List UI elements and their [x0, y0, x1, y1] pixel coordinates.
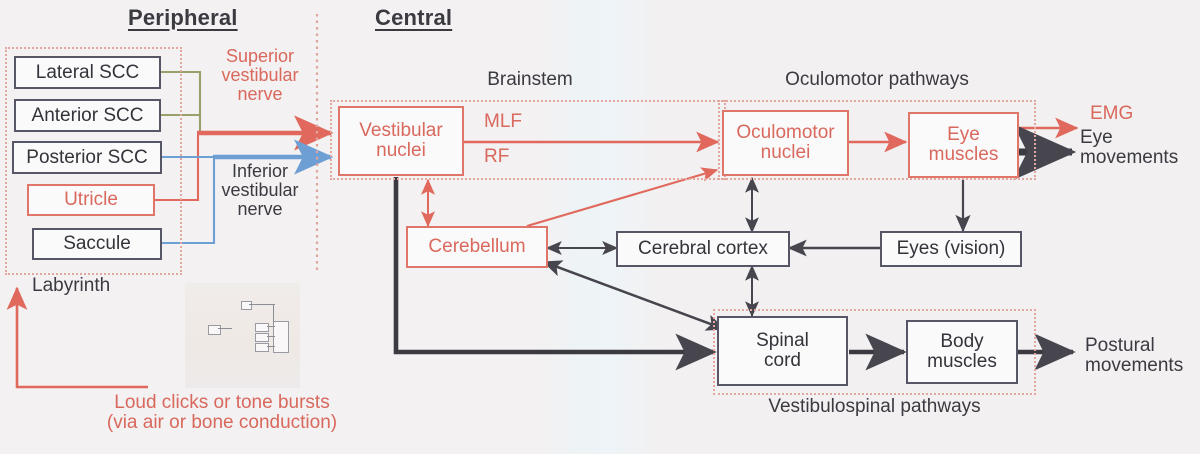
box-label: Vestibular nuclei — [340, 121, 462, 161]
edge-spinal-cord-to-cerebellum — [544, 262, 724, 329]
label-labyrinth: Labyrinth — [32, 276, 110, 296]
box-utricle[interactable]: Utricle — [27, 184, 155, 216]
label-stimulus: Loud clicks or tone bursts (via air or b… — [12, 393, 432, 433]
label-mlf: MLF — [484, 112, 544, 132]
box-spinal-cord[interactable]: Spinal cord — [717, 316, 848, 386]
electrode — [255, 323, 269, 332]
electrode-wire — [267, 336, 275, 337]
electrode — [255, 333, 269, 342]
label-postural-movements: Postural movements — [1085, 336, 1200, 376]
electrode-wire — [273, 304, 274, 324]
label-vestibulospinal-pathways: Vestibulospinal pathways — [713, 397, 1036, 417]
box-label: Cerebellum — [408, 237, 546, 257]
box-label: Utricle — [29, 190, 153, 210]
subject-photo — [185, 283, 300, 388]
box-label: Lateral SCC — [16, 63, 159, 83]
label-inferior-vestibular-nerve: Inferior vestibular nerve — [204, 162, 316, 219]
electrode-connector — [273, 321, 289, 353]
label-eye-movements: Eye movements — [1080, 128, 1198, 168]
heading-peripheral: Peripheral — [128, 5, 238, 31]
box-label: Eyes (vision) — [882, 239, 1020, 259]
electrode-wire — [267, 326, 275, 327]
label-brainstem: Brainstem — [440, 70, 620, 90]
electrode-wire — [267, 346, 275, 347]
box-anterior-scc[interactable]: Anterior SCC — [14, 99, 161, 132]
box-label: Posterior SCC — [14, 148, 160, 168]
box-cerebellum[interactable]: Cerebellum — [406, 226, 548, 268]
electrode-wire — [249, 304, 275, 305]
label-rf: RF — [484, 147, 544, 167]
box-lateral-scc[interactable]: Lateral SCC — [14, 56, 161, 89]
box-body-muscles[interactable]: Body muscles — [906, 320, 1018, 384]
box-cerebral-cortex[interactable]: Cerebral cortex — [616, 231, 790, 267]
box-oculomotor-nuclei[interactable]: Oculomotor nuclei — [722, 110, 849, 176]
box-label: Saccule — [34, 234, 160, 254]
box-label: Cerebral cortex — [618, 239, 788, 259]
box-label: Eye muscles — [910, 125, 1017, 165]
box-eye-muscles[interactable]: Eye muscles — [908, 112, 1019, 178]
figure-canvas: Peripheral Central Lateral SCC Anterior … — [0, 0, 1200, 454]
box-saccule[interactable]: Saccule — [32, 228, 162, 260]
box-label: Oculomotor nuclei — [724, 123, 847, 163]
box-posterior-scc[interactable]: Posterior SCC — [12, 141, 162, 174]
label-emg: EMG — [1090, 104, 1170, 124]
heading-central: Central — [375, 5, 452, 31]
electrode — [241, 301, 252, 310]
box-label: Spinal cord — [719, 331, 846, 371]
box-label: Body muscles — [908, 332, 1016, 372]
label-superior-vestibular-nerve: Superior vestibular nerve — [204, 47, 316, 104]
box-vestibular-nuclei[interactable]: Vestibular nuclei — [338, 106, 464, 176]
box-label: Anterior SCC — [16, 106, 159, 126]
electrode — [208, 325, 221, 335]
box-eyes-vision[interactable]: Eyes (vision) — [880, 231, 1022, 267]
electrode — [255, 343, 269, 352]
electrode-wire — [218, 328, 232, 329]
edge-stimulus-to-labyrinth — [17, 288, 148, 387]
label-oculomotor-pathways: Oculomotor pathways — [718, 70, 1036, 90]
